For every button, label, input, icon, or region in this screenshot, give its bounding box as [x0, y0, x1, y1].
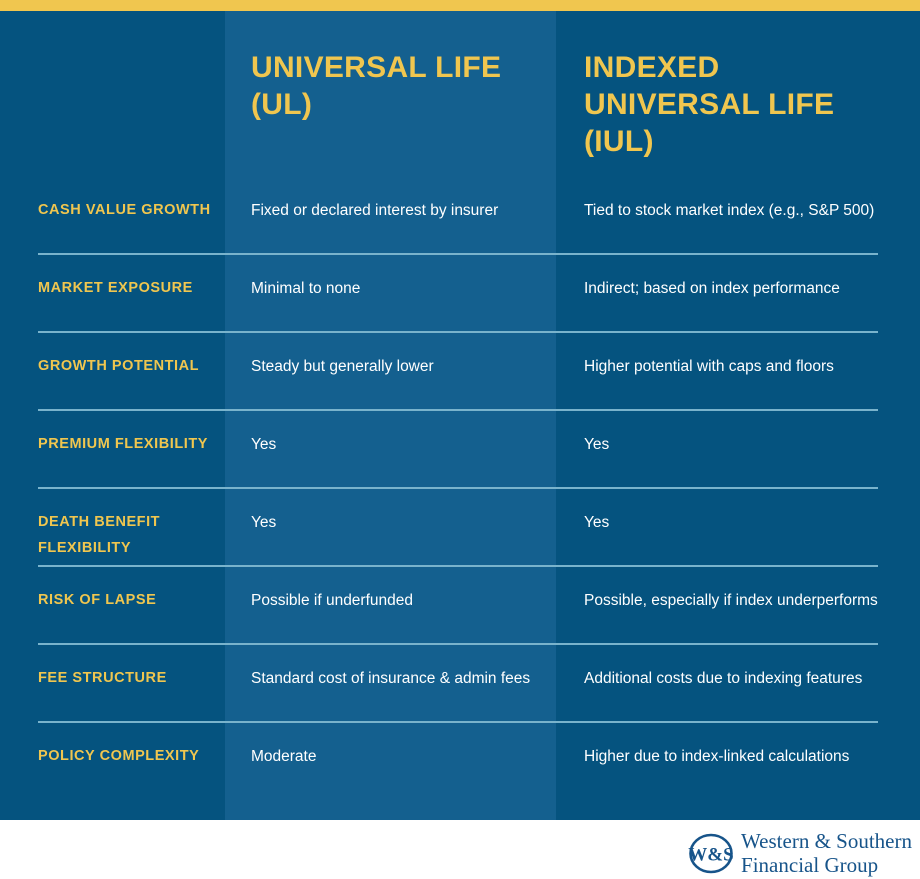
row-value-iul: Possible, especially if index underperfo…	[584, 565, 900, 614]
row-divider	[38, 409, 878, 411]
row-value-ul-cell: Fixed or declared interest by insurer	[225, 175, 556, 224]
row-label-cell: PREMIUM FLEXIBILITY	[0, 409, 225, 458]
row-value-iul-cell: Yes	[556, 409, 920, 458]
table-row: DEATH BENEFIT FLEXIBILITY Yes Yes	[0, 487, 920, 565]
row-label: DEATH BENEFIT FLEXIBILITY	[38, 487, 213, 562]
row-label: RISK OF LAPSE	[38, 565, 213, 614]
row-value-ul: Moderate	[251, 721, 538, 770]
top-accent-bar	[0, 0, 920, 11]
row-value-ul: Standard cost of insurance & admin fees	[251, 643, 538, 692]
logo-line-1: Western & Southern	[741, 830, 912, 854]
row-value-iul: Higher potential with caps and floors	[584, 331, 900, 380]
table-header-row: UNIVERSAL LIFE (UL) INDEXED UNIVERSAL LI…	[0, 11, 920, 175]
row-value-ul-cell: Steady but generally lower	[225, 331, 556, 380]
row-value-iul: Higher due to index-linked calculations	[584, 721, 900, 770]
table-row: RISK OF LAPSE Possible if underfunded Po…	[0, 565, 920, 643]
column-title-iul: INDEXED UNIVERSAL LIFE (IUL)	[584, 11, 900, 161]
row-label-cell: DEATH BENEFIT FLEXIBILITY	[0, 487, 225, 562]
row-value-ul-cell: Moderate	[225, 721, 556, 770]
comparison-table: UNIVERSAL LIFE (UL) INDEXED UNIVERSAL LI…	[0, 11, 920, 799]
row-value-iul-cell: Yes	[556, 487, 920, 536]
table-row: FEE STRUCTURE Standard cost of insurance…	[0, 643, 920, 721]
row-label-cell: POLICY COMPLEXITY	[0, 721, 225, 770]
table-row: POLICY COMPLEXITY Moderate Higher due to…	[0, 721, 920, 799]
row-label: FEE STRUCTURE	[38, 643, 213, 692]
row-divider	[38, 253, 878, 255]
comparison-infographic: UNIVERSAL LIFE (UL) INDEXED UNIVERSAL LI…	[0, 0, 920, 879]
row-value-ul-cell: Yes	[225, 487, 556, 536]
row-value-iul: Yes	[584, 487, 900, 536]
row-value-ul: Steady but generally lower	[251, 331, 538, 380]
row-label-cell: MARKET EXPOSURE	[0, 253, 225, 302]
row-value-ul: Fixed or declared interest by insurer	[251, 175, 538, 224]
header-cell-ul: UNIVERSAL LIFE (UL)	[225, 11, 556, 124]
row-divider	[38, 487, 878, 489]
row-value-iul: Tied to stock market index (e.g., S&P 50…	[584, 175, 900, 224]
table-row: MARKET EXPOSURE Minimal to none Indirect…	[0, 253, 920, 331]
row-label: PREMIUM FLEXIBILITY	[38, 409, 213, 458]
row-divider	[38, 643, 878, 645]
row-value-iul-cell: Higher potential with caps and floors	[556, 331, 920, 380]
footer-bar: W&S Western & Southern Financial Group	[0, 820, 920, 879]
row-value-iul-cell: Higher due to index-linked calculations	[556, 721, 920, 770]
row-label-cell: CASH VALUE GROWTH	[0, 175, 225, 224]
row-value-ul: Possible if underfunded	[251, 565, 538, 614]
row-label: POLICY COMPLEXITY	[38, 721, 213, 770]
svg-text:W&S: W&S	[688, 845, 733, 866]
row-value-iul-cell: Indirect; based on index performance	[556, 253, 920, 302]
header-cell-iul: INDEXED UNIVERSAL LIFE (IUL)	[556, 11, 920, 161]
row-divider	[38, 565, 878, 567]
row-value-ul-cell: Yes	[225, 409, 556, 458]
row-value-ul-cell: Standard cost of insurance & admin fees	[225, 643, 556, 692]
row-label-cell: RISK OF LAPSE	[0, 565, 225, 614]
brand-logo: W&S Western & Southern Financial Group	[688, 830, 912, 877]
row-value-iul-cell: Possible, especially if index underperfo…	[556, 565, 920, 614]
row-divider	[38, 721, 878, 723]
row-label: GROWTH POTENTIAL	[38, 331, 213, 380]
row-value-ul: Minimal to none	[251, 253, 538, 302]
row-value-ul-cell: Minimal to none	[225, 253, 556, 302]
row-label: MARKET EXPOSURE	[38, 253, 213, 302]
table-row: CASH VALUE GROWTH Fixed or declared inte…	[0, 175, 920, 253]
row-value-ul: Yes	[251, 409, 538, 458]
row-value-iul: Indirect; based on index performance	[584, 253, 900, 302]
row-label-cell: FEE STRUCTURE	[0, 643, 225, 692]
row-value-ul: Yes	[251, 487, 538, 536]
table-row: GROWTH POTENTIAL Steady but generally lo…	[0, 331, 920, 409]
row-value-ul-cell: Possible if underfunded	[225, 565, 556, 614]
column-title-ul: UNIVERSAL LIFE (UL)	[251, 11, 538, 124]
logo-line-2: Financial Group	[741, 854, 912, 878]
row-value-iul-cell: Additional costs due to indexing feature…	[556, 643, 920, 692]
ws-monogram-icon: W&S	[688, 833, 734, 874]
row-label-cell: GROWTH POTENTIAL	[0, 331, 225, 380]
row-value-iul: Additional costs due to indexing feature…	[584, 643, 900, 692]
row-value-iul-cell: Tied to stock market index (e.g., S&P 50…	[556, 175, 920, 224]
logo-wordmark: Western & Southern Financial Group	[741, 830, 912, 877]
table-row: PREMIUM FLEXIBILITY Yes Yes	[0, 409, 920, 487]
row-divider	[38, 331, 878, 333]
row-label: CASH VALUE GROWTH	[38, 175, 213, 224]
row-value-iul: Yes	[584, 409, 900, 458]
